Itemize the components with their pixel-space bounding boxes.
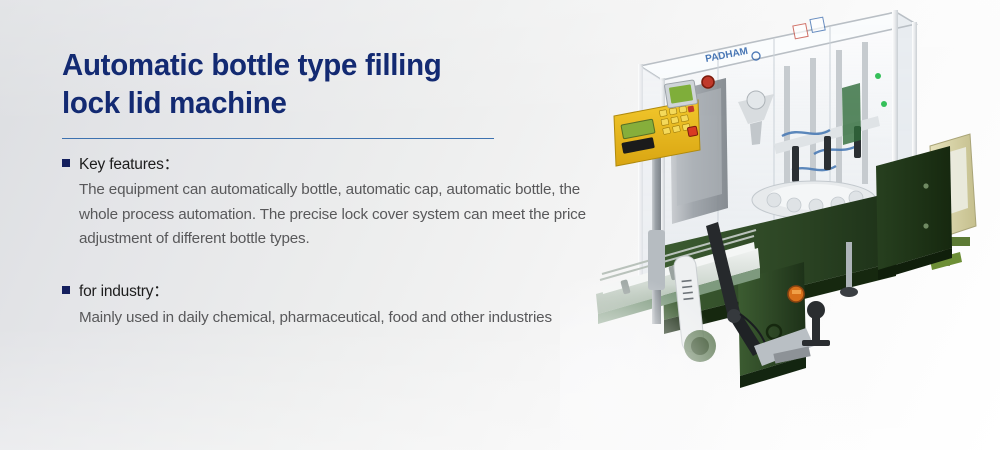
feature-body: The equipment can automatically bottle, … [79,178,591,252]
feature-heading: for industry： [62,283,602,302]
square-bullet-icon [62,286,70,294]
product-photo: PADHAM [578,0,1000,424]
feature-label: Key features： [79,156,179,175]
feature-heading: Key features： [62,156,602,175]
square-bullet-icon [62,159,70,167]
feature-body: Mainly used in daily chemical, pharmaceu… [79,306,591,331]
feature-label: for industry： [79,283,169,302]
feature-block-key-features: Key features： The equipment can automati… [62,156,602,252]
title-divider [62,138,494,139]
feature-block-for-industry: for industry： Mainly used in daily chemi… [62,283,602,330]
page-title: Automatic bottle type filling lock lid m… [62,46,575,122]
product-banner: Automatic bottle type filling lock lid m… [0,0,1000,450]
text-column: Automatic bottle type filling lock lid m… [62,46,602,330]
